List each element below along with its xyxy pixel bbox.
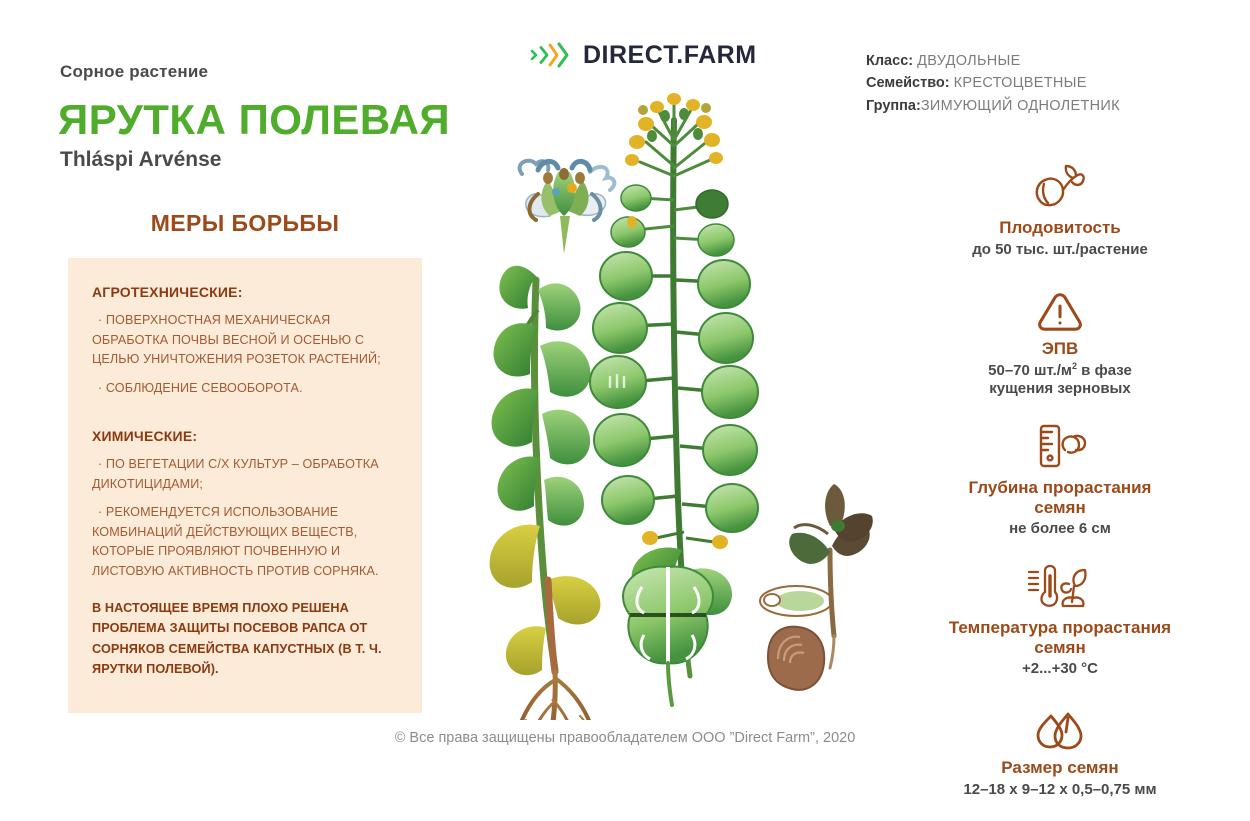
fact-value: 50–70 шт./м2 в фазе кущения зерновых: [900, 361, 1220, 398]
fact-title-line: Температура прорастания: [900, 618, 1220, 638]
chemical-item: · РЕКОМЕНДУЕТСЯ ИСПОЛЬЗОВАНИЕ КОМБИНАЦИЙ…: [92, 503, 398, 581]
flower-closeup: [520, 161, 615, 254]
warning-triangle-icon: [900, 281, 1220, 333]
fact-title: Размер семян: [900, 758, 1220, 778]
thermometer-sprout-icon: [900, 560, 1220, 612]
measures-panel: АГРОТЕХНИЧЕСКИЕ: · ПОВЕРХНОСТНАЯ МЕХАНИЧ…: [68, 258, 422, 713]
measures-note: В НАСТОЯЩЕЕ ВРЕМЯ ПЛОХО РЕШЕНА ПРОБЛЕМА …: [92, 598, 398, 679]
agrotechnical-item: · ПОВЕРХНОСТНАЯ МЕХАНИЧЕСКАЯ ОБРАБОТКА П…: [92, 311, 398, 370]
sprouting-seed-icon: [900, 160, 1220, 212]
brand-name: DIRECT.FARM: [583, 41, 757, 70]
chemical-heading: ХИМИЧЕСКИЕ:: [92, 428, 398, 444]
silicle-pod-cross-section: [623, 567, 713, 705]
classification-value: ЗИМУЮЩИЙ ОДНОЛЕТНИК: [921, 98, 1120, 114]
facts-column: Плодовитость до 50 тыс. шт./растение ЭПВ…: [900, 160, 1220, 821]
chemical-item: · ПО ВЕГЕТАЦИИ С/Х КУЛЬТУР – ОБРАБОТКА Д…: [92, 455, 398, 494]
fact-title-line: семян: [900, 498, 1220, 518]
classification-label: Класс:: [866, 53, 913, 69]
fact-title-line: Глубина прорастания: [900, 478, 1220, 498]
fact-germination-temperature: Температура прорастания семян +2...+30 °…: [900, 560, 1220, 678]
fact-title: ЭПВ: [900, 339, 1220, 359]
classification-value: КРЕСТОЦВЕТНЫЕ: [954, 75, 1087, 91]
fact-title: Плодовитость: [900, 218, 1220, 238]
chevrons-icon: [528, 40, 572, 70]
fact-value: +2...+30 °C: [900, 660, 1220, 678]
thlaspi-arvense-watercolor-svg: [460, 80, 880, 720]
fact-title-line: семян: [900, 638, 1220, 658]
fact-value: до 50 тыс. шт./растение: [900, 241, 1220, 259]
classification-row-group: Группа:ЗИМУЮЩИЙ ОДНОЛЕТНИК: [866, 95, 1120, 117]
agrotechnical-item: · СОБЛЮДЕНИЕ СЕВООБОРОТА.: [92, 379, 398, 399]
fact-value-line: 50–70 шт./м2 в фазе: [900, 361, 1220, 380]
seed-detail: [760, 586, 832, 690]
fact-title: Глубина прорастания семян: [900, 478, 1220, 517]
ruler-seed-icon: [900, 420, 1220, 472]
brand-logo[interactable]: DIRECT.FARM: [528, 40, 757, 70]
fact-etp: ЭПВ 50–70 шт./м2 в фазе кущения зерновых: [900, 281, 1220, 399]
fact-value: 12–18 x 9–12 x 0,5–0,75 мм: [900, 781, 1220, 799]
measures-heading: МЕРЫ БОРЬБЫ: [68, 210, 422, 237]
classification-value: ДВУДОЛЬНЫЕ: [917, 53, 1021, 69]
fact-value-line: кущения зерновых: [900, 380, 1220, 398]
page-kicker: Сорное растение: [60, 62, 208, 82]
classification-block: Класс: ДВУДОЛЬНЫЕ Семейство: КРЕСТОЦВЕТН…: [866, 50, 1120, 117]
fact-germination-depth: Глубина прорастания семян не более 6 см: [900, 420, 1220, 538]
fact-fecundity: Плодовитость до 50 тыс. шт./растение: [900, 160, 1220, 259]
copyright-footer: © Все права защищены правообладателем ОО…: [0, 730, 1250, 746]
agrotechnical-heading: АГРОТЕХНИЧЕСКИЕ:: [92, 284, 398, 300]
fact-title: Температура прорастания семян: [900, 618, 1220, 657]
classification-row-class: Класс: ДВУДОЛЬНЫЕ: [866, 50, 1120, 72]
rosette-plant-with-roots: [490, 266, 601, 720]
classification-row-family: Семейство: КРЕСТОЦВЕТНЫЕ: [866, 72, 1120, 94]
latin-name: Thláspi Arvénse: [60, 148, 221, 172]
page-title: ЯРУТКА ПОЛЕВАЯ: [58, 96, 450, 144]
plant-illustration: [460, 80, 880, 720]
fact-seed-size: Размер семян 12–18 x 9–12 x 0,5–0,75 мм: [900, 700, 1220, 799]
fact-value: не более 6 см: [900, 520, 1220, 538]
